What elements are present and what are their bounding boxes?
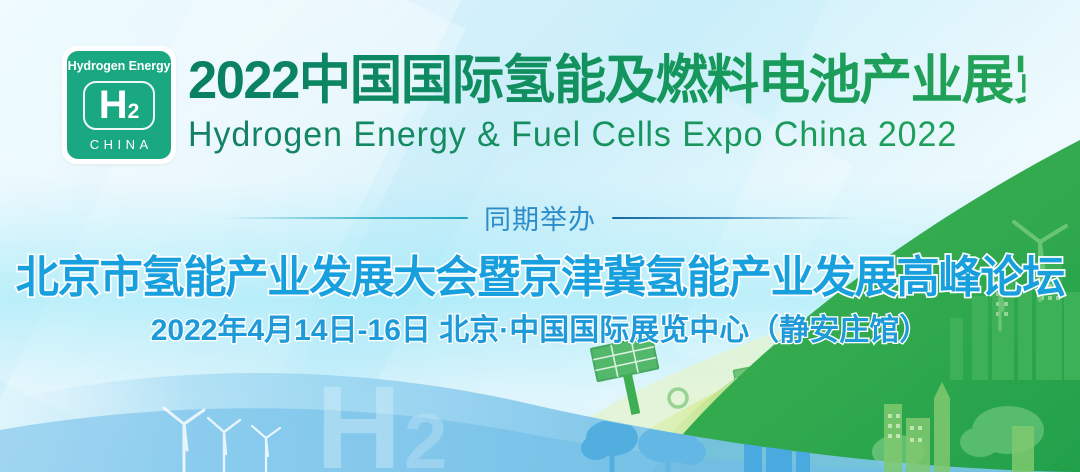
concurrent-event-divider: 同期举办 [0,198,1080,237]
tree-group-dark [872,406,1044,469]
title-block: 2022中国国际氢能及燃料电池产业展览会 Hydrogen Energy & F… [188,52,1034,156]
hill-dark-green [652,140,1080,472]
expo-title-chinese: 2022中国国际氢能及燃料电池产业展览会 [188,52,1026,110]
logo-bottom-text: CHINA [85,138,152,151]
logo-inner-panel: Hydrogen Energy H2 CHINA [67,51,171,159]
svg-text:H: H [1025,385,1068,436]
hill-blue-foreground [0,373,1080,472]
city-skyline-blue-windows [748,406,790,440]
solar-panel-medium [734,361,792,427]
city-skyline-light-windows [888,414,922,442]
tree [864,353,916,406]
solar-panel-small [843,374,889,427]
svg-text:2: 2 [1061,397,1080,430]
h2-watermark-green: H 2 [1025,379,1080,441]
expo-title-english: Hydrogen Energy & Fuel Cells Expo China … [188,114,1009,156]
expo-banner: H 2 [0,0,1080,472]
svg-text:H: H [316,362,401,472]
venue-date-line: 2022年4月14日-16日 北京·中国国际展览中心（静安庄馆） [0,312,1080,350]
concurrent-label: 同期举办 [484,198,596,237]
wind-turbine-group-white [164,408,280,472]
tree-group-blue [581,420,706,472]
city-skyline-light [884,382,1034,472]
city-skyline-blue [744,380,810,472]
divider-rule-left [224,217,468,219]
tree-group-green [864,353,974,406]
tree [940,355,974,395]
forum-title: 北京市氢能产业发展大会暨京津冀氢能产业发展高峰论坛 [11,252,1069,304]
hill-blue-foreground-2 [0,408,1080,472]
logo-2-glyph: 2 [128,101,140,122]
recycle-circle-icon [669,389,687,407]
logo-h-glyph: H [99,85,127,125]
svg-text:2: 2 [404,397,447,472]
expo-logo: Hydrogen Energy H2 CHINA [62,46,176,164]
logo-top-text: Hydrogen Energy [68,60,171,73]
divider-rule-right [612,217,856,219]
h2-watermark-blue: H 2 [316,362,447,472]
logo-h2-badge: H2 [83,81,156,130]
recycle-circle-icon [577,395,595,413]
